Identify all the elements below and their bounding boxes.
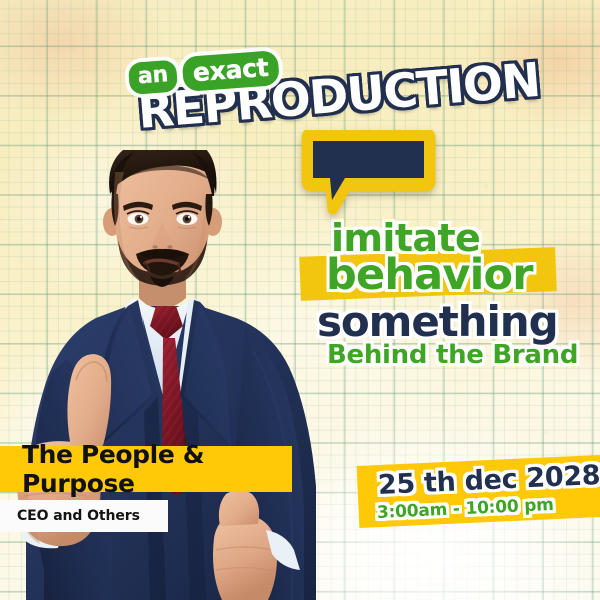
businessman-thumbs-up-photo: [0, 150, 350, 600]
footer-title-text: The People & Purpose: [0, 440, 292, 498]
stack-line-behavior: behavior: [326, 254, 533, 297]
speech-bubble-icon: [301, 130, 429, 183]
footer-subtitle-text: CEO and Others: [0, 508, 140, 524]
eyebrow-word-an: an: [128, 59, 178, 94]
footer-title-band: The People & Purpose: [0, 446, 292, 492]
stack-line-behind-the-brand: Behind the Brand: [327, 342, 578, 368]
eyebrow-word-exact: exact: [182, 50, 280, 92]
stack-line-something: something: [317, 301, 558, 343]
footer-subtitle-band: CEO and Others: [0, 500, 168, 532]
poster-canvas: an exact REPRODUCTION imitate behavior s…: [0, 0, 600, 600]
